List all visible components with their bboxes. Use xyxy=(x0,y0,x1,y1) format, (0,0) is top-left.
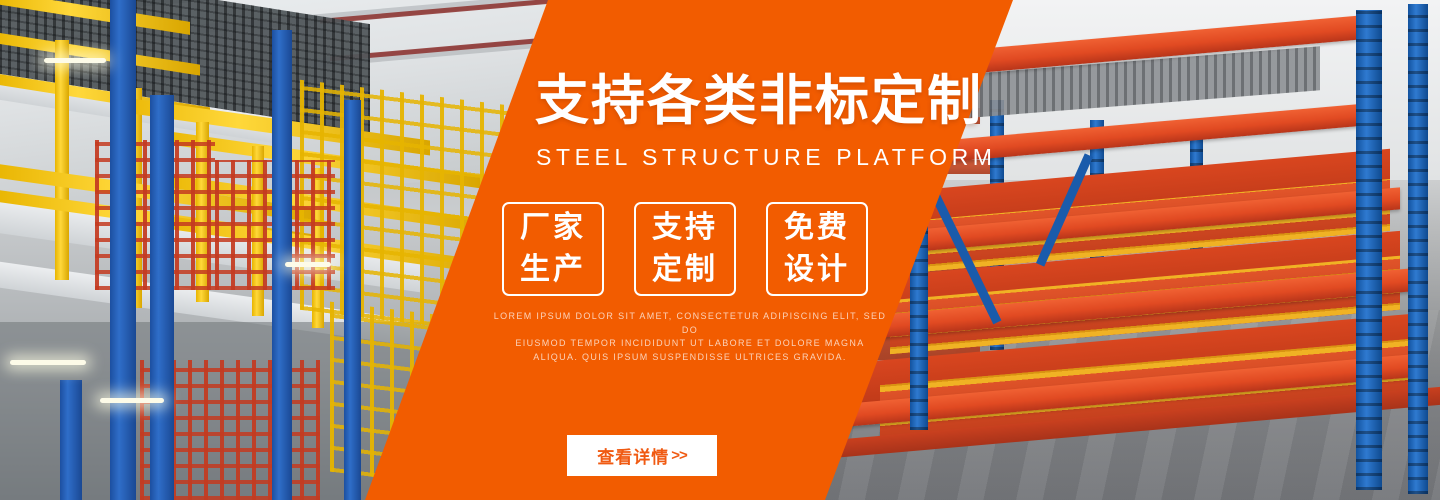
promo-banner: 支持各类非标定制 STEEL STRUCTURE PLATFORM 厂家 生产 … xyxy=(0,0,1440,500)
badge-line-1: 免费 xyxy=(784,207,850,249)
feature-badge-free-design[interactable]: 免费 设计 xyxy=(766,202,868,296)
double-chevron-right-icon: >> xyxy=(671,447,687,464)
subtitle: STEEL STRUCTURE PLATFORM xyxy=(536,144,997,171)
banner-content: 支持各类非标定制 STEEL STRUCTURE PLATFORM 厂家 生产 … xyxy=(0,0,1440,500)
description-line-3: ALIQUA. QUIS IPSUM SUSPENDISSE ULTRICES … xyxy=(490,351,890,365)
description-line-2: EIUSMOD TEMPOR INCIDIDUNT UT LABORE ET D… xyxy=(490,337,890,351)
badge-line-2: 设计 xyxy=(784,249,850,291)
badge-line-2: 定制 xyxy=(652,249,718,291)
description-line-1: LOREM IPSUM DOLOR SIT AMET, CONSECTETUR … xyxy=(490,310,890,337)
cta-label: 查看详情 xyxy=(597,443,669,468)
feature-badge-group: 厂家 生产 支持 定制 免费 设计 xyxy=(502,202,868,296)
view-details-button[interactable]: 查看详情 >> xyxy=(567,435,717,476)
badge-line-1: 支持 xyxy=(652,207,718,249)
badge-line-1: 厂家 xyxy=(520,207,586,249)
feature-badge-customization[interactable]: 支持 定制 xyxy=(634,202,736,296)
page-title: 支持各类非标定制 xyxy=(535,70,965,132)
feature-badge-manufacturer[interactable]: 厂家 生产 xyxy=(502,202,604,296)
description-text: LOREM IPSUM DOLOR SIT AMET, CONSECTETUR … xyxy=(490,310,890,364)
badge-line-2: 生产 xyxy=(520,249,586,291)
